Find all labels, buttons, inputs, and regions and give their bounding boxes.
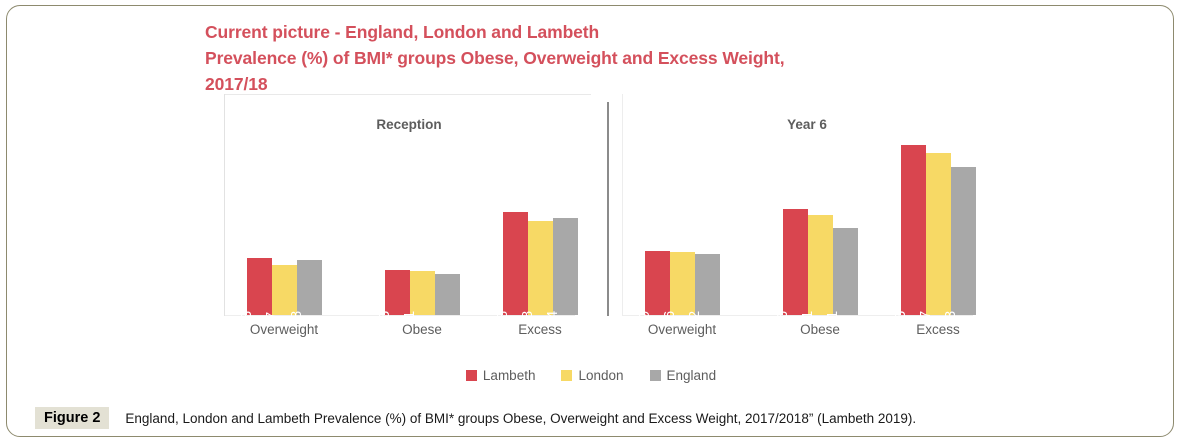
bar-reception-excess-england[interactable]: 22.4: [553, 218, 578, 315]
category-label-reception-excess: Excess: [470, 322, 610, 337]
category-label-year-6-overweight: Overweight: [612, 322, 752, 337]
figure-number-badge: Figure 2: [35, 407, 109, 429]
legend-label-lambeth: Lambeth: [483, 368, 536, 383]
plot-area-year6: 14.914.614.224.623.120.139.537.734.3: [623, 94, 989, 315]
legend-label-london: London: [578, 368, 623, 383]
panel-divider: [607, 102, 609, 316]
bar-reception-overweight-england[interactable]: 12.8: [297, 260, 322, 315]
bars: 39.537.734.3: [901, 94, 976, 315]
bars: 10.510.19.5: [385, 94, 460, 315]
bars: 24.623.120.1: [783, 94, 858, 315]
plot-area-reception: 13.311.712.810.510.19.523.821.822.4: [225, 94, 591, 315]
legend-item-england[interactable]: England: [650, 368, 717, 383]
bars: 13.311.712.8: [247, 94, 322, 315]
bar-reception-obese-england[interactable]: 9.5: [435, 274, 460, 315]
figure-caption-text: England, London and Lambeth Prevalence (…: [125, 411, 916, 426]
legend-swatch-london: [561, 370, 572, 381]
bar-year-6-obese-england[interactable]: 20.1: [833, 228, 858, 315]
chart-title: Current picture - England, London and La…: [205, 19, 945, 97]
category-label-year-6-excess: Excess: [868, 322, 1008, 337]
bar-year-6-overweight-england[interactable]: 14.2: [695, 254, 720, 315]
chart-legend: Lambeth London England: [7, 368, 1175, 383]
category-label-reception-overweight: Overweight: [214, 322, 354, 337]
legend-swatch-lambeth: [466, 370, 477, 381]
bars: 14.914.614.2: [645, 94, 720, 315]
bars: 23.821.822.4: [503, 94, 578, 315]
legend-label-england: England: [667, 368, 717, 383]
chart-region: Current picture - England, London and La…: [7, 6, 1175, 388]
bar-year-6-excess-england[interactable]: 34.3: [951, 167, 976, 315]
legend-item-london[interactable]: London: [561, 368, 623, 383]
figure-card: Current picture - England, London and La…: [6, 5, 1174, 437]
figure-caption: Figure 2 England, London and Lambeth Pre…: [7, 398, 1175, 438]
legend-swatch-england: [650, 370, 661, 381]
legend-item-lambeth[interactable]: Lambeth: [466, 368, 536, 383]
